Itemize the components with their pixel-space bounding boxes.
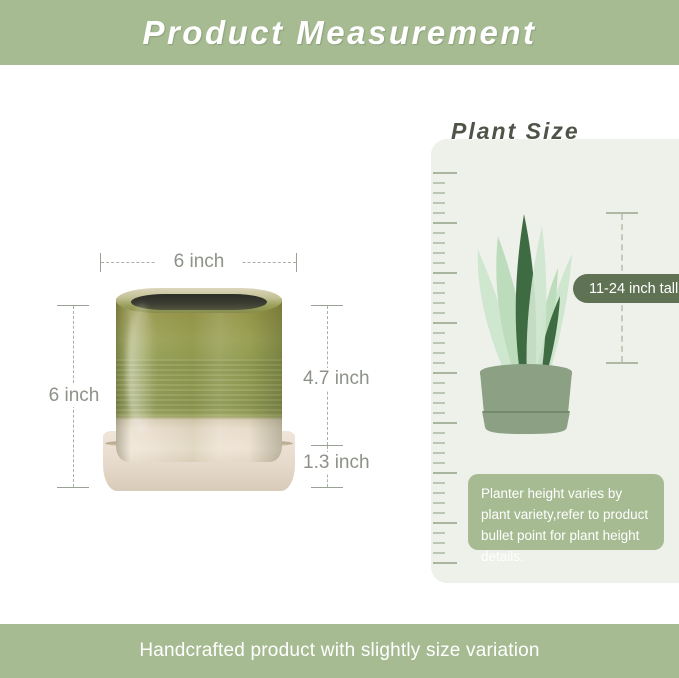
- ruler-tick: [433, 382, 445, 384]
- ruler-tick: [433, 512, 445, 514]
- ruler-tick: [433, 502, 445, 504]
- total-height-cap-bottom: [57, 487, 89, 488]
- ruler-tick: [433, 342, 445, 344]
- ruler-tick: [433, 462, 445, 464]
- ruler-tick-major: [433, 562, 457, 564]
- ruler-tick: [433, 202, 445, 204]
- snake-plant-illustration: [462, 196, 592, 434]
- total-height-dim-label: 6 inch: [38, 385, 110, 407]
- ruler-tick: [433, 542, 445, 544]
- infographic-page: Product Measurement 6 inch 6 inch 4.7 in…: [0, 0, 679, 678]
- ruler-tick: [433, 352, 445, 354]
- ruler-tick: [433, 212, 445, 214]
- ruler-tick: [433, 232, 445, 234]
- plant-saucer: [482, 411, 570, 434]
- footer-banner: Handcrafted product with slightly size v…: [0, 624, 679, 678]
- ruler-tick: [433, 402, 445, 404]
- ruler-scale: [433, 172, 459, 562]
- ruler-tick: [433, 182, 445, 184]
- header-banner: Product Measurement: [0, 0, 679, 65]
- ruler-tick: [433, 432, 445, 434]
- ruler-tick-major: [433, 272, 457, 274]
- ruler-tick-major: [433, 472, 457, 474]
- ruler-tick: [433, 292, 445, 294]
- plant-pot-rim: [480, 364, 572, 380]
- width-dim-cap-right: [296, 253, 297, 272]
- plant-height-badge-label: 11-24 inch tall: [589, 281, 678, 297]
- ruler-tick: [433, 532, 445, 534]
- ruler-tick: [433, 482, 445, 484]
- ruler-tick: [433, 492, 445, 494]
- ruler-tick-major: [433, 422, 457, 424]
- ruler-tick: [433, 252, 445, 254]
- ruler-tick: [433, 302, 445, 304]
- ruler-tick-major: [433, 522, 457, 524]
- ruler-tick-major: [433, 322, 457, 324]
- product-photo: [103, 286, 295, 491]
- ruler-tick: [433, 262, 445, 264]
- plant-size-title: Plant Size: [451, 118, 580, 145]
- pot-interior-opening: [131, 294, 267, 310]
- ruler-tick: [433, 242, 445, 244]
- ruler-tick: [433, 312, 445, 314]
- ruler-tick-major: [433, 222, 457, 224]
- ruler-tick-major: [433, 172, 457, 174]
- ruler-tick: [433, 362, 445, 364]
- ruler-tick-major: [433, 372, 457, 374]
- ruler-tick: [433, 452, 445, 454]
- footer-text: Handcrafted product with slightly size v…: [139, 640, 539, 662]
- plant-caption-box: Planter height varies by plant variety,r…: [468, 474, 664, 550]
- ruler-tick: [433, 192, 445, 194]
- ruler-tick: [433, 412, 445, 414]
- ruler-tick: [433, 392, 445, 394]
- pot-height-dim-label: 4.7 inch: [299, 368, 395, 390]
- ruler-tick: [433, 442, 445, 444]
- ruler-tick: [433, 552, 445, 554]
- pot-gloss-highlight: [127, 304, 157, 434]
- ruler-tick: [433, 332, 445, 334]
- plant-height-cap-bottom: [606, 362, 638, 364]
- saucer-height-dim-label: 1.3 inch: [300, 452, 392, 474]
- width-dim-label: 6 inch: [156, 251, 242, 273]
- plant-height-badge: 11-24 inch tall: [573, 274, 679, 303]
- ruler-tick: [433, 282, 445, 284]
- saucer-height-cap-bottom: [311, 487, 343, 488]
- page-title: Product Measurement: [142, 14, 536, 52]
